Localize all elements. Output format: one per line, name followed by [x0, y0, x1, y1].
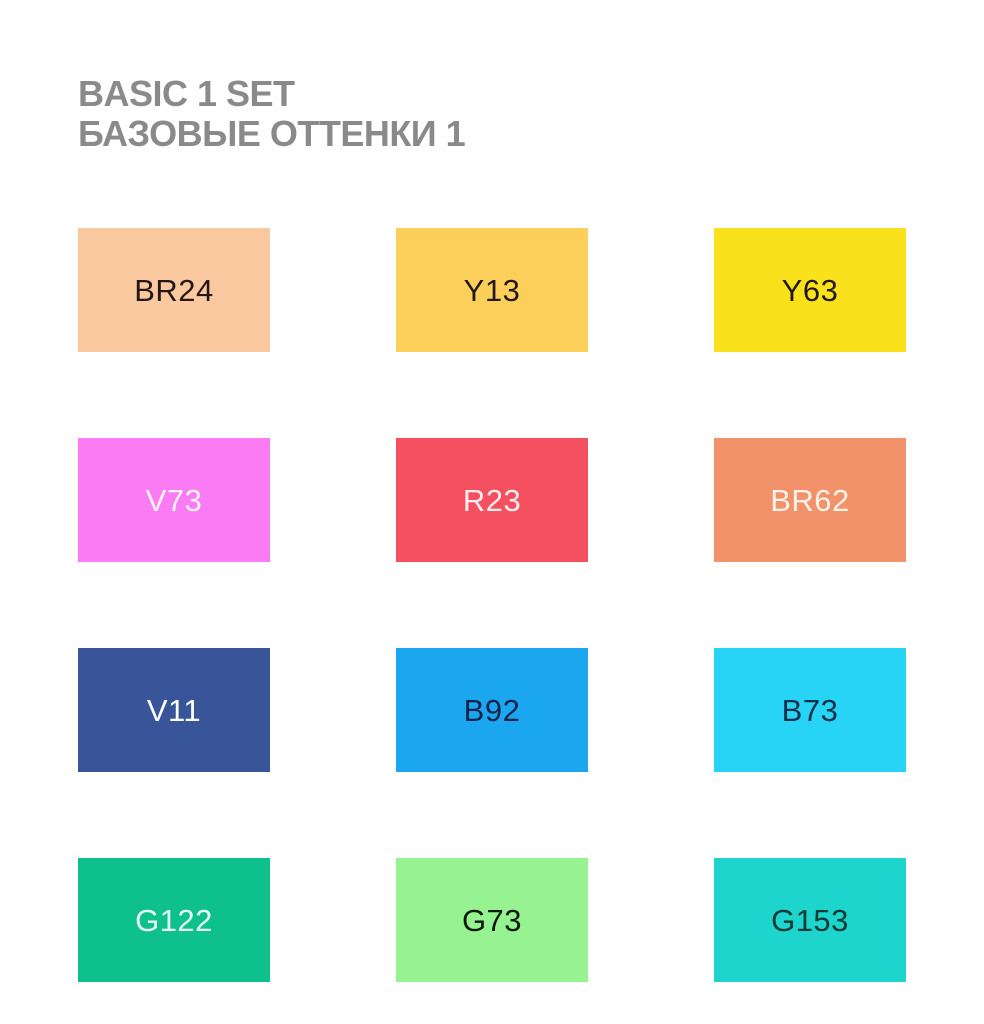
swatch-code-label: Y13 — [464, 275, 521, 306]
swatch-code-label: V73 — [146, 485, 203, 516]
swatch-code-label: V11 — [147, 695, 201, 726]
color-swatch[interactable]: B73 — [714, 648, 906, 772]
swatch-code-label: G73 — [462, 905, 522, 936]
title-line-english: BASIC 1 SET — [78, 74, 898, 114]
swatch-code-label: Y63 — [782, 275, 839, 306]
color-swatch[interactable]: R23 — [396, 438, 588, 562]
color-swatch[interactable]: V11 — [78, 648, 270, 772]
title-line-russian: БАЗОВЫЕ ОТТЕНКИ 1 — [78, 114, 898, 154]
color-swatch[interactable]: G122 — [78, 858, 270, 982]
color-swatch[interactable]: Y63 — [714, 228, 906, 352]
color-swatch[interactable]: V73 — [78, 438, 270, 562]
color-swatch[interactable]: Y13 — [396, 228, 588, 352]
swatch-code-label: G122 — [135, 905, 213, 936]
swatch-code-label: B73 — [782, 695, 839, 726]
color-swatch[interactable]: G73 — [396, 858, 588, 982]
color-swatch[interactable]: BR62 — [714, 438, 906, 562]
page-title: BASIC 1 SET БАЗОВЫЕ ОТТЕНКИ 1 — [78, 74, 898, 155]
color-swatch[interactable]: B92 — [396, 648, 588, 772]
color-swatch[interactable]: BR24 — [78, 228, 270, 352]
swatch-code-label: BR62 — [770, 485, 850, 516]
swatch-grid: BR24Y13Y63V73R23BR62V11B92B73G122G73G153 — [78, 228, 906, 982]
swatch-code-label: BR24 — [134, 275, 214, 306]
color-swatch-page: BASIC 1 SET БАЗОВЫЕ ОТТЕНКИ 1 BR24Y13Y63… — [0, 0, 984, 1024]
swatch-code-label: R23 — [463, 485, 521, 516]
color-swatch[interactable]: G153 — [714, 858, 906, 982]
swatch-code-label: G153 — [771, 905, 849, 936]
swatch-code-label: B92 — [464, 695, 521, 726]
